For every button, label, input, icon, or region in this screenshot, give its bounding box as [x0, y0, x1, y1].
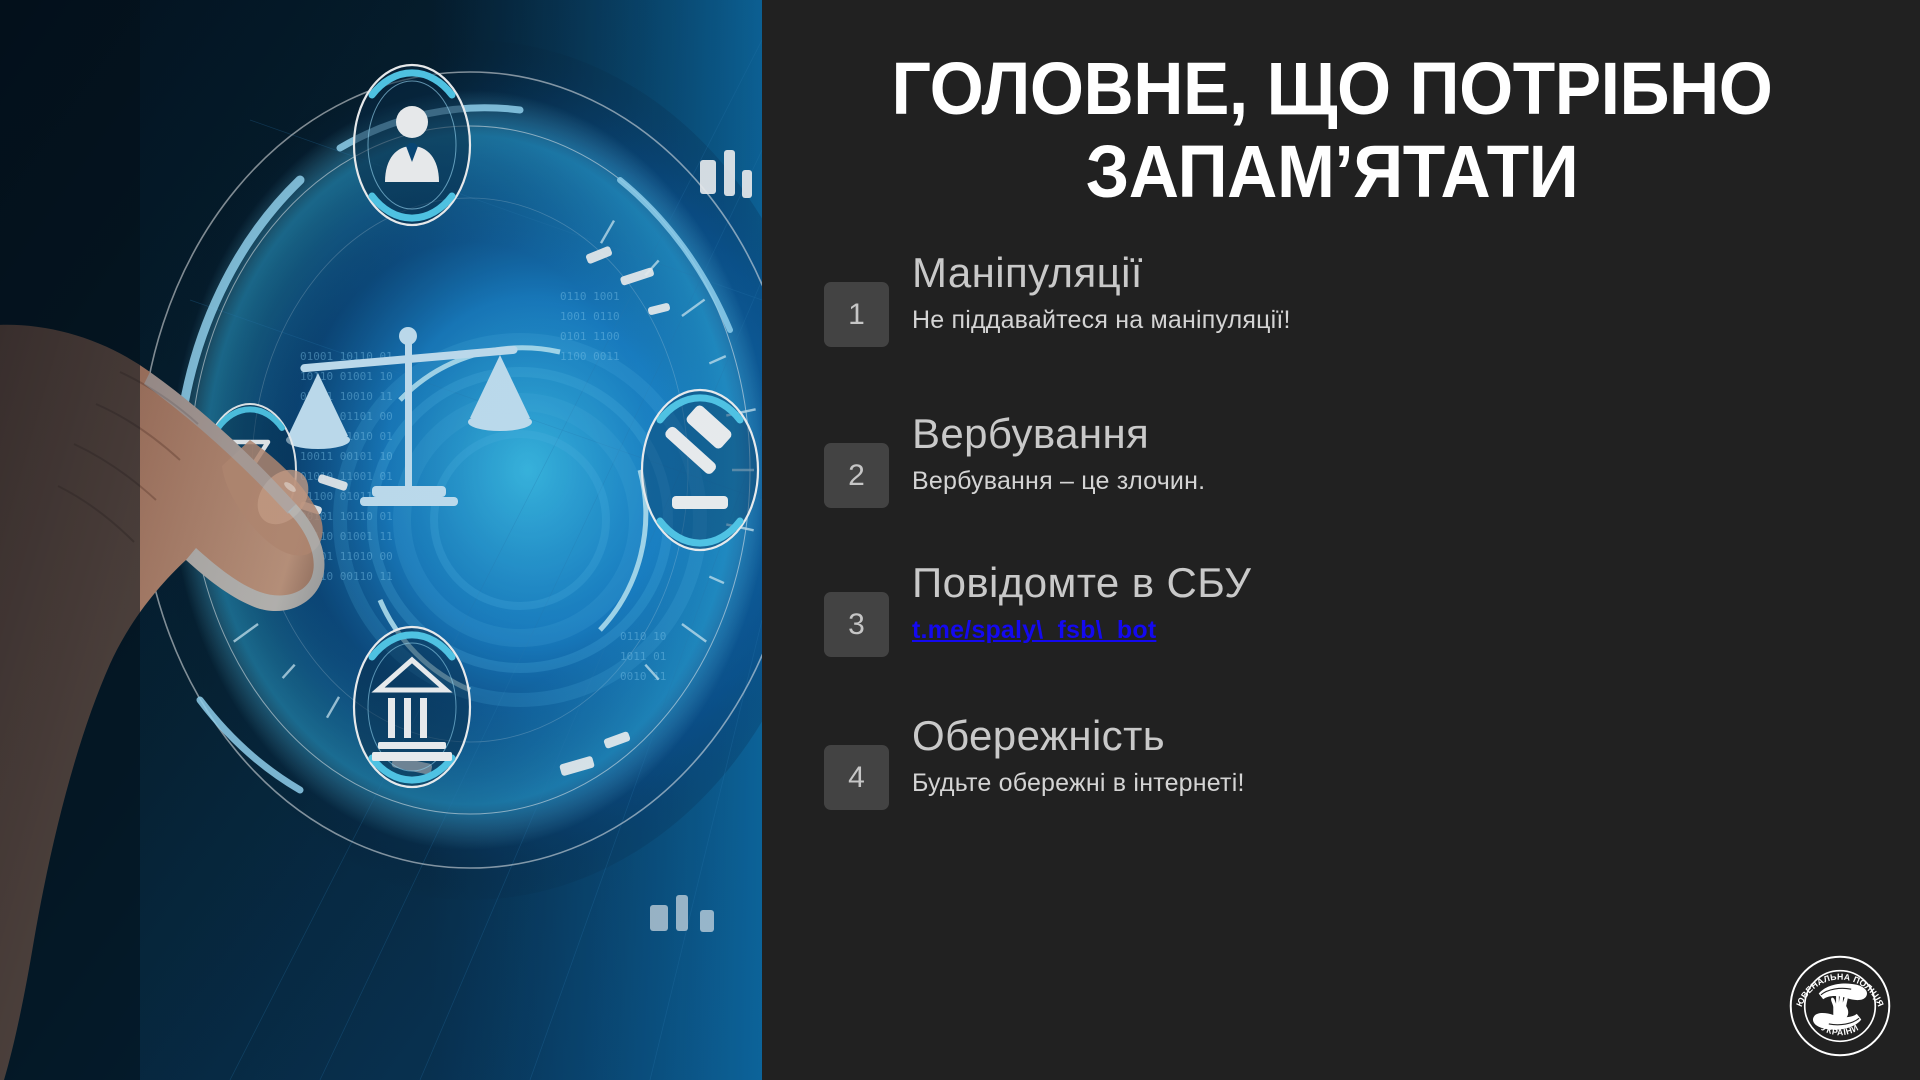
page-title: ГОЛОВНЕ, ЩО ПОТРІБНО ЗАПАМ’ЯТАТИ: [823, 48, 1842, 214]
logo-svg: ЮВЕНАЛЬНА ПОЛІЦІЯ УКРАЇНИ: [1784, 950, 1896, 1062]
content-panel: ГОЛОВНЕ, ЩО ПОТРІБНО ЗАПАМ’ЯТАТИ 1 Маніп…: [762, 0, 1920, 1080]
point-text-block: Маніпуляції Не піддавайтеся на маніпуляц…: [912, 250, 1732, 337]
list-item: 1 Маніпуляції Не піддавайтеся на маніпул…: [762, 250, 1920, 401]
point-heading: Обережність: [912, 713, 1732, 758]
hero-image-panel: 01001 10110 01 10110 01001 10 01101 1001…: [0, 0, 762, 1080]
point-number-badge: 3: [824, 592, 889, 657]
juvenile-police-of-ukraine-logo: ЮВЕНАЛЬНА ПОЛІЦІЯ УКРАЇНИ: [1784, 950, 1896, 1062]
point-heading: Маніпуляції: [912, 250, 1732, 295]
point-description: Не піддавайтеся на маніпуляції!: [912, 305, 1732, 336]
point-heading: Повідомте в СБУ: [912, 560, 1732, 605]
key-points-list: 1 Маніпуляції Не піддавайтеся на маніпул…: [762, 250, 1920, 854]
point-number-badge: 2: [824, 443, 889, 508]
point-description: Вербування – це злочин.: [912, 466, 1732, 497]
telegram-bot-link[interactable]: t.me/spaly\_fsb\_bot: [912, 615, 1732, 646]
page-title-line-2: ЗАПАМ’ЯТАТИ: [1086, 130, 1579, 213]
justice-technology-photo: 01001 10110 01 10110 01001 10 01101 1001…: [0, 0, 762, 1080]
list-item: 2 Вербування Вербування – це злочин.: [762, 401, 1920, 552]
slide-root: 01001 10110 01 10110 01001 10 01101 1001…: [0, 0, 1920, 1080]
point-heading: Вербування: [912, 411, 1732, 456]
point-number-badge: 1: [824, 282, 889, 347]
point-text-block: Вербування Вербування – це злочин.: [912, 411, 1732, 498]
page-title-line-1: ГОЛОВНЕ, ЩО ПОТРІБНО: [892, 47, 1773, 130]
point-description: Будьте обережні в інтернеті!: [912, 768, 1732, 799]
point-text-block: Обережність Будьте обережні в інтернеті!: [912, 713, 1732, 800]
point-text-block: Повідомте в СБУ t.me/spaly\_fsb\_bot: [912, 560, 1732, 647]
point-number-badge: 4: [824, 745, 889, 810]
list-item: 3 Повідомте в СБУ t.me/spaly\_fsb\_bot: [762, 552, 1920, 703]
list-item: 4 Обережність Будьте обережні в інтернет…: [762, 703, 1920, 854]
